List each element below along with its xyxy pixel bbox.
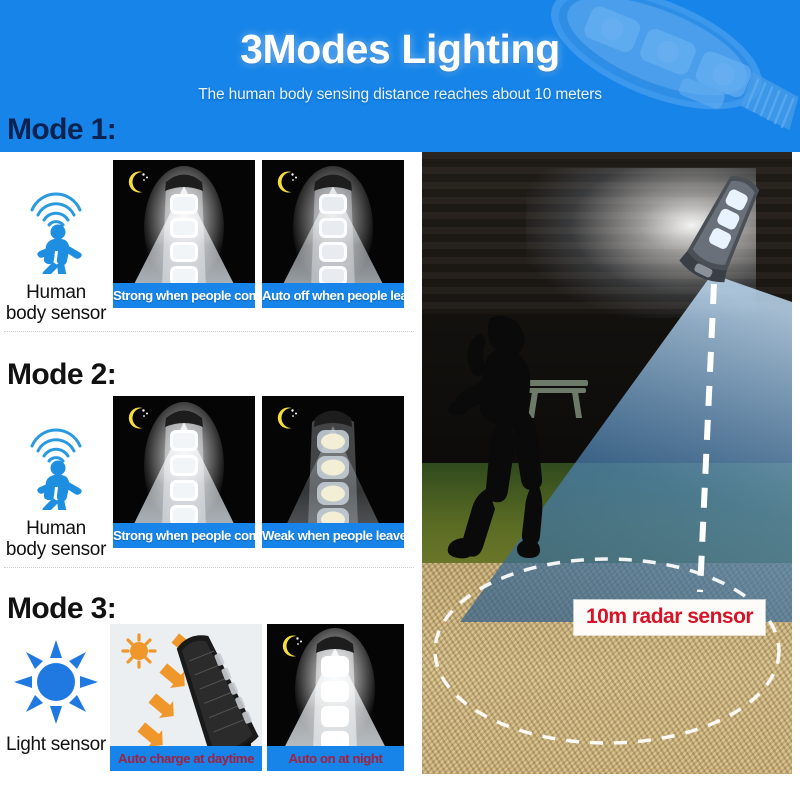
mode-2-title: Mode 2: (7, 358, 116, 392)
page-title: 3Modes Lighting (0, 26, 800, 73)
section-divider (4, 331, 414, 332)
mode-3-card-1: Auto charge at daytime (110, 624, 262, 771)
crescent-moon-icon (274, 405, 300, 431)
motion-wave-person-icon (0, 168, 112, 276)
mode-1-sensor: Human body sensor (0, 168, 112, 325)
mode-2-sensor: Human body sensor (0, 404, 112, 561)
card-caption: Auto off when people leaves (262, 283, 404, 308)
street-lamp-product-image (496, 0, 800, 152)
mode-3-sensor: Light sensor (0, 636, 112, 755)
card-caption: Auto charge at daytime (110, 746, 262, 771)
sensor-label-line2: body sensor (0, 539, 112, 560)
card-caption: Weak when people leaves (262, 523, 404, 548)
section-divider (4, 567, 414, 568)
sensor-label-line1: Human (0, 518, 112, 539)
mode-2-card-2: Weak when people leaves (262, 396, 404, 548)
header-banner: 3Modes Lighting The human body sensing d… (0, 0, 800, 152)
crescent-moon-icon (125, 405, 151, 431)
mode-3-card-2: Auto on at night (267, 624, 404, 771)
running-person-silhouette (446, 312, 578, 562)
sensor-label-line1: Human (0, 282, 112, 303)
sensor-label: Light sensor (0, 734, 112, 755)
crescent-moon-icon (274, 169, 300, 195)
crescent-moon-icon (279, 633, 305, 659)
infographic-page: 3Modes Lighting The human body sensing d… (0, 0, 800, 800)
sensor-label-line1: Light sensor (0, 734, 112, 755)
dashed-radar-circle (422, 546, 792, 756)
mode-1-card-2: Auto off when people leaves (262, 160, 404, 308)
sensor-label: Human body sensor (0, 518, 112, 561)
motion-wave-person-icon (0, 404, 112, 512)
street-lamp-icon (676, 170, 768, 290)
card-caption: Strong when people comes (113, 523, 255, 548)
sensor-label-line2: body sensor (0, 303, 112, 324)
status-badge: 10m radar sensor (574, 600, 765, 635)
radar-demo-photo: 10m radar sensor (422, 152, 792, 774)
crescent-moon-icon (125, 169, 151, 195)
card-caption: Strong when people comes (113, 283, 255, 308)
mode-3-title: Mode 3: (7, 592, 116, 626)
sensor-label: Human body sensor (0, 282, 112, 325)
mode-1-card-1: Strong when people comes (113, 160, 255, 308)
page-subtitle: The human body sensing distance reaches … (0, 86, 800, 104)
mode-1-title: Mode 1: (7, 113, 116, 147)
sun-light-sensor-icon (0, 636, 112, 728)
sun-with-arrows-icon (123, 635, 155, 667)
card-caption: Auto on at night (267, 746, 404, 771)
mode-2-card-1: Strong when people comes (113, 396, 255, 548)
